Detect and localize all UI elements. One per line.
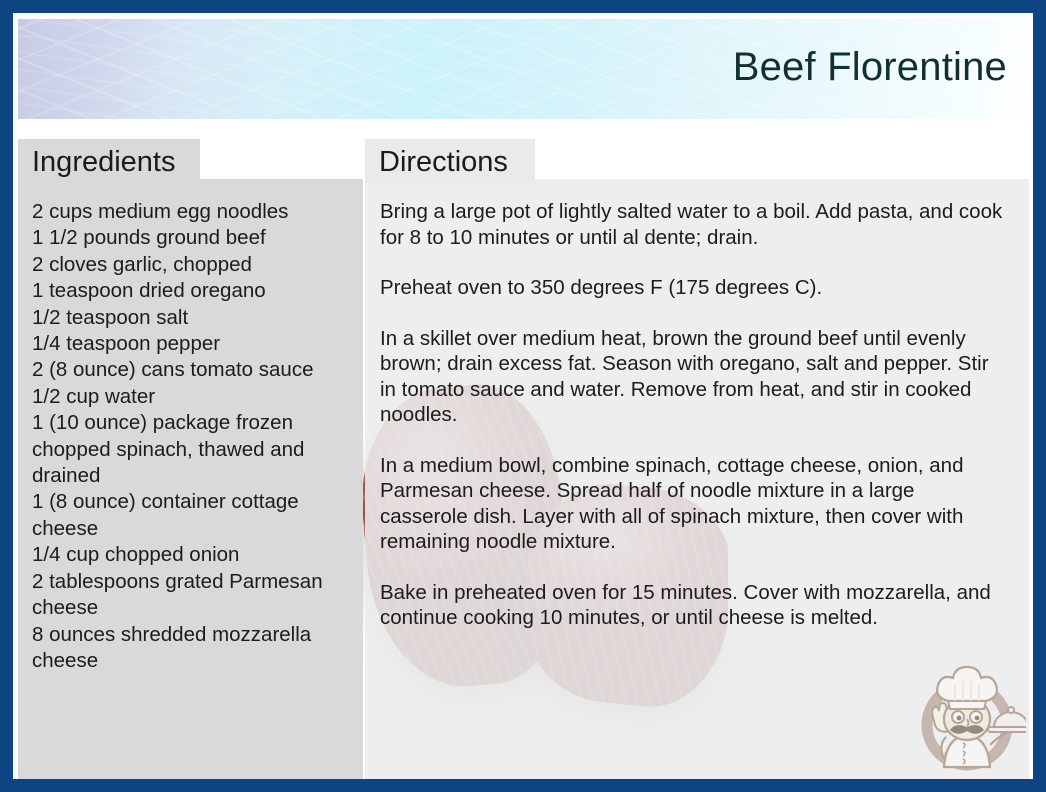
direction-step: In a medium bowl, combine spinach, cotta… — [380, 453, 1007, 555]
ingredients-heading: Ingredients — [18, 139, 200, 183]
ingredient-item: 1/4 cup chopped onion — [32, 542, 348, 568]
ingredients-list: 2 cups medium egg noodles1 1/2 pounds gr… — [18, 199, 348, 674]
header-banner: Beef Florentine — [18, 19, 1029, 119]
ingredient-item: 1/2 cup water — [32, 384, 348, 410]
recipe-card: Beef Florentine Ingredients 2 cups mediu… — [0, 0, 1046, 792]
ingredient-item: 1 (10 ounce) package frozen chopped spin… — [32, 410, 348, 489]
ingredient-item: 8 ounces shredded mozzarella cheese — [32, 622, 348, 675]
ingredient-item: 2 cups medium egg noodles — [32, 199, 348, 225]
ingredient-item: 1 teaspoon dried oregano — [32, 278, 348, 304]
ingredient-item: 2 cloves garlic, chopped — [32, 252, 348, 278]
ingredient-item: 1 (8 ounce) container cottage cheese — [32, 489, 348, 542]
ingredient-item: 1/2 teaspoon salt — [32, 305, 348, 331]
ingredient-item: 1/4 teaspoon pepper — [32, 331, 348, 357]
directions-heading: Directions — [365, 139, 535, 183]
direction-step: Bake in preheated oven for 15 minutes. C… — [380, 580, 1007, 631]
page-title: Beef Florentine — [733, 41, 1007, 93]
ingredient-item: 2 tablespoons grated Parmesan cheese — [32, 569, 348, 622]
chef-mascot-logo — [908, 663, 1026, 773]
card-inner-surface: Beef Florentine Ingredients 2 cups mediu… — [13, 13, 1033, 779]
direction-step: In a skillet over medium heat, brown the… — [380, 326, 1007, 428]
direction-step: Preheat oven to 350 degrees F (175 degre… — [380, 275, 1007, 301]
directions-body: Bring a large pot of lightly salted wate… — [365, 199, 1029, 631]
chef-hat-icon — [937, 667, 997, 701]
ingredient-item: 2 (8 ounce) cans tomato sauce — [32, 357, 348, 383]
ingredient-item: 1 1/2 pounds ground beef — [32, 225, 348, 251]
direction-step: Bring a large pot of lightly salted wate… — [380, 199, 1007, 250]
